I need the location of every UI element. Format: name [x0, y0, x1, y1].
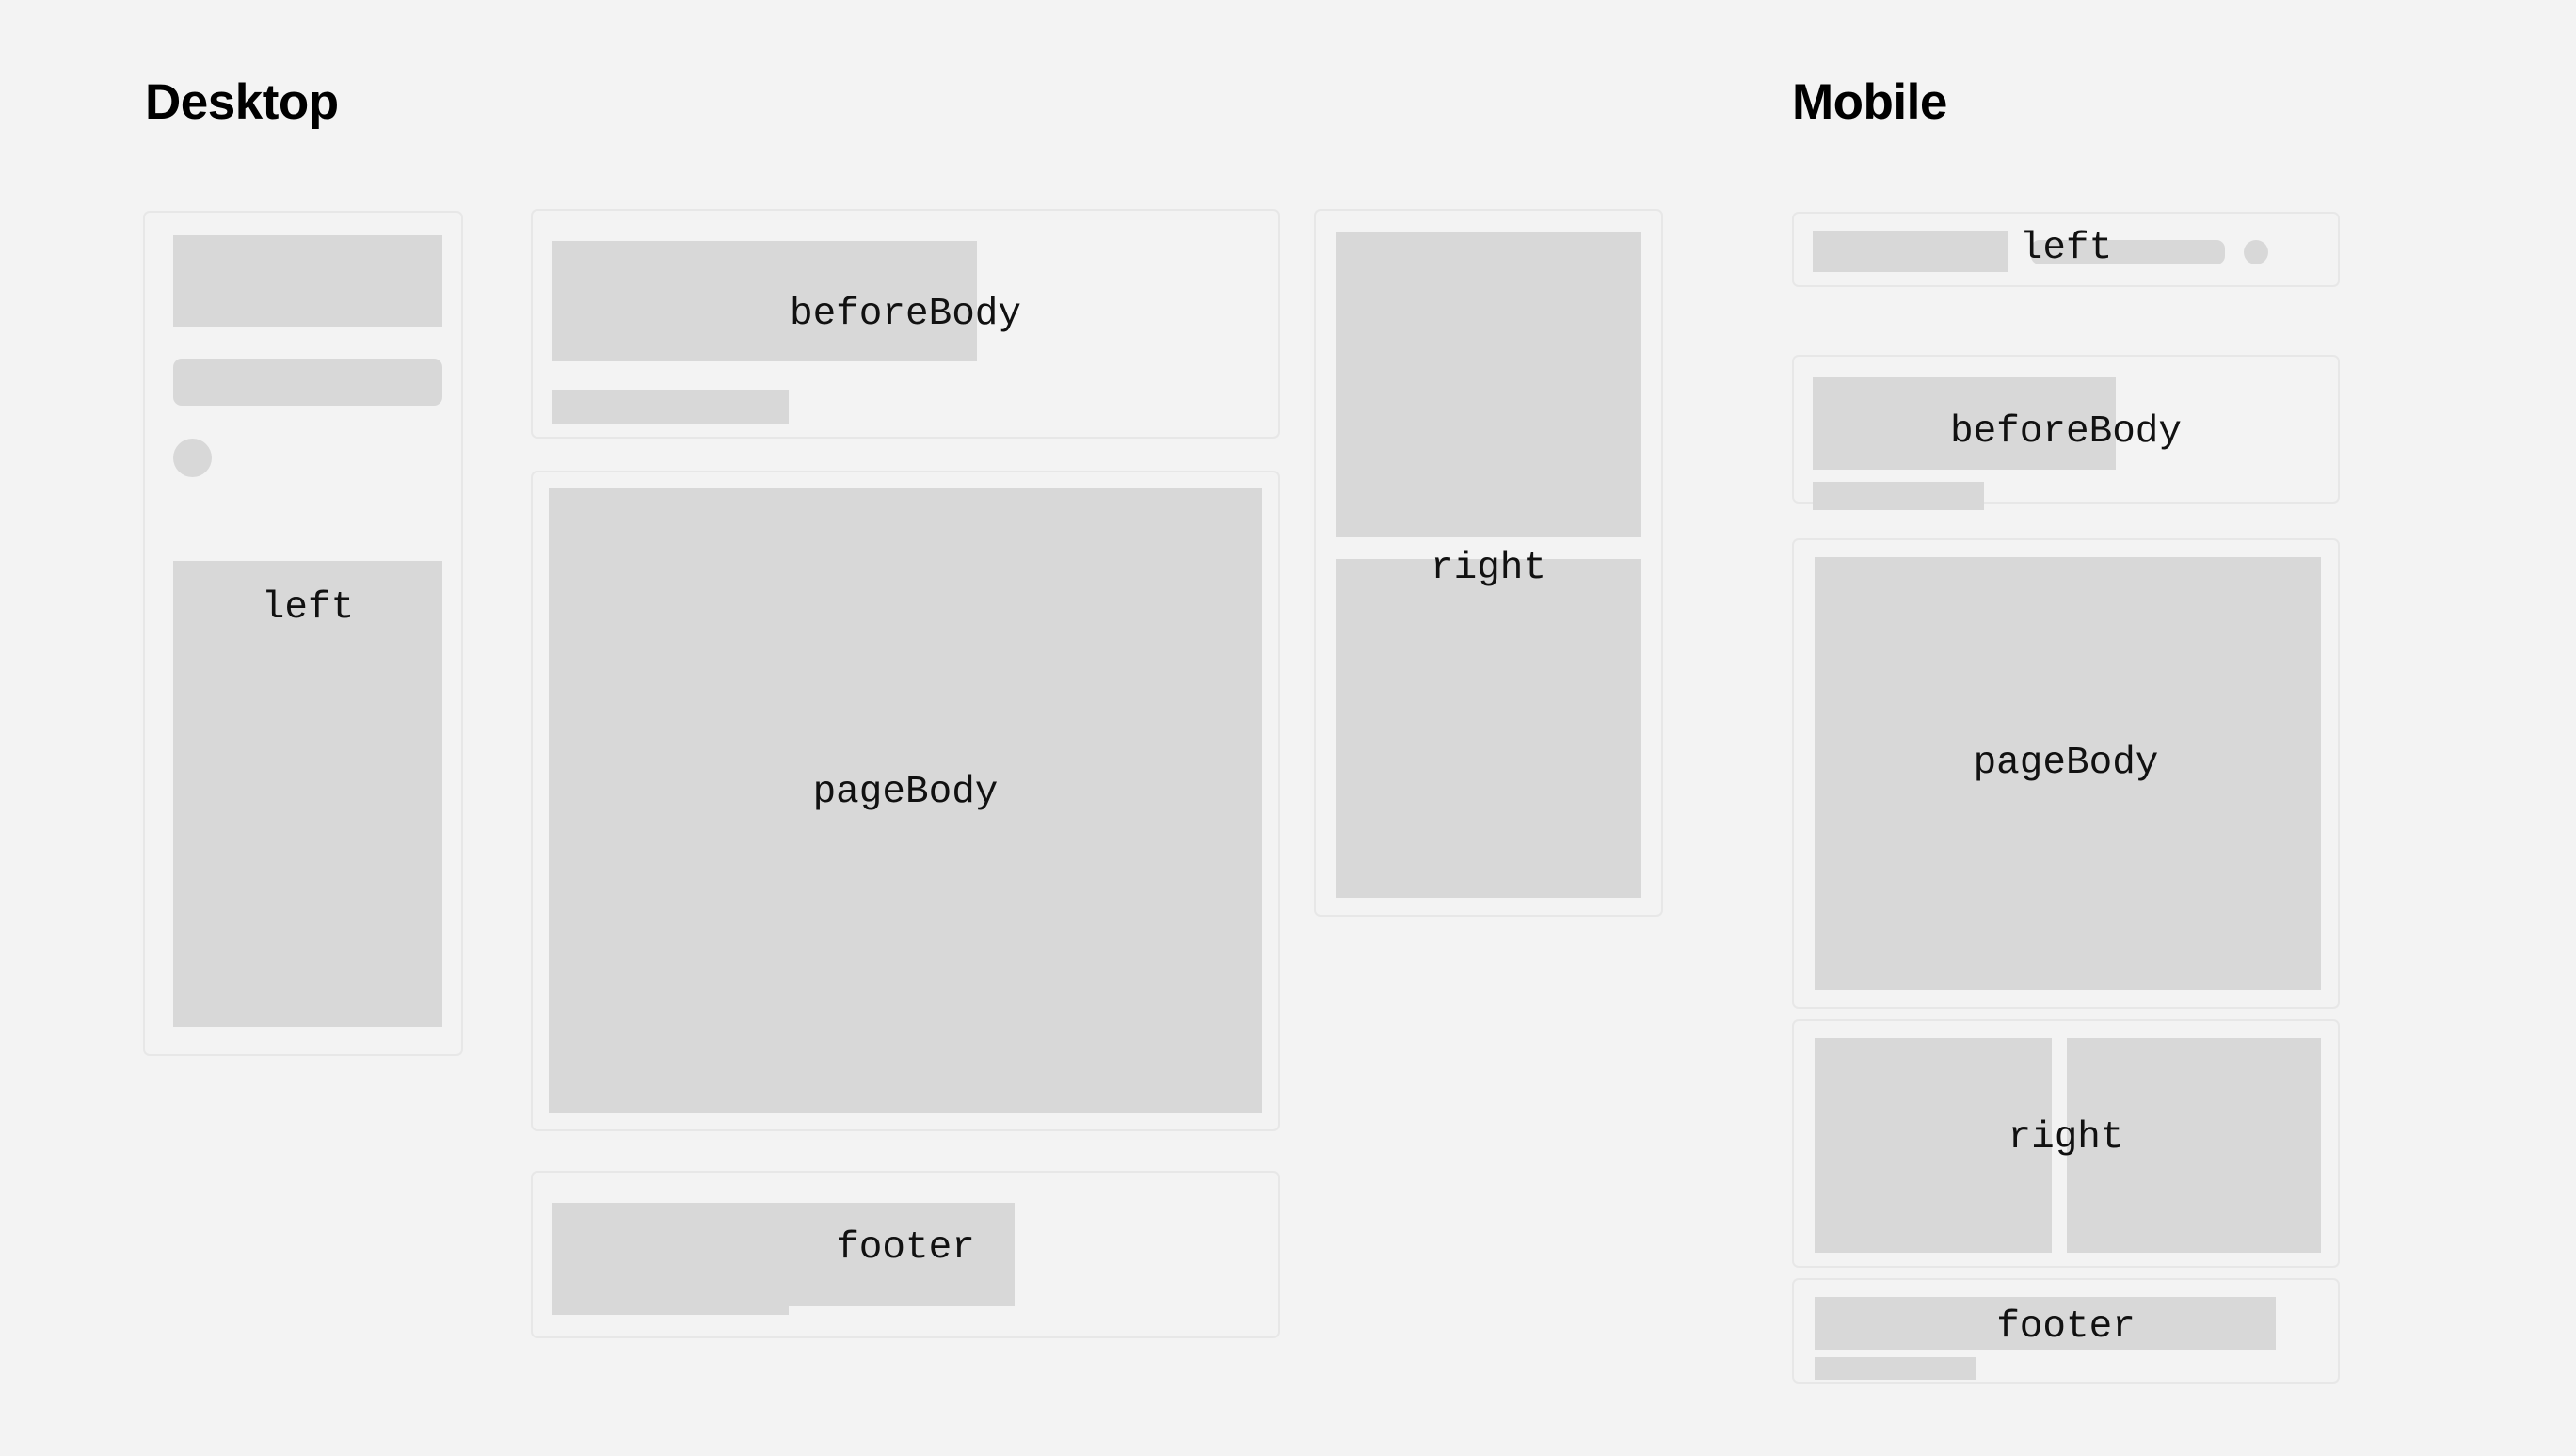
desktop-left-header-block — [173, 235, 442, 327]
desktop-right-widget-block-bottom — [1336, 559, 1641, 898]
desktop-left-avatar — [173, 439, 212, 477]
desktop-right-panel: right — [1314, 209, 1663, 917]
desktop-before-body-caption-bar — [552, 390, 789, 424]
desktop-left-search-bar — [173, 359, 442, 406]
desktop-before-body-panel: beforeBody — [531, 209, 1280, 439]
desktop-footer-small-bar — [552, 1281, 789, 1315]
mobile-footer-small-bar — [1815, 1357, 1976, 1380]
mobile-before-body-banner-block — [1813, 377, 2116, 470]
mobile-page-body-panel: pageBody — [1792, 538, 2340, 1009]
mobile-footer-panel: footer — [1792, 1278, 2340, 1384]
mobile-left-panel: left — [1792, 212, 2340, 287]
desktop-page-body-panel: pageBody — [531, 471, 1280, 1131]
mobile-footer-bar — [1815, 1297, 2276, 1350]
mobile-right-widget-block-right — [2067, 1038, 2321, 1253]
desktop-footer-panel: footer — [531, 1171, 1280, 1338]
mobile-before-body-caption-bar — [1813, 482, 1984, 510]
mobile-left-header-block — [1813, 231, 2008, 272]
desktop-right-widget-block-top — [1336, 232, 1641, 537]
desktop-before-body-banner-block — [552, 241, 977, 361]
mobile-right-widget-block-left — [1815, 1038, 2052, 1253]
desktop-section-title: Desktop — [145, 77, 339, 127]
mobile-left-avatar — [2244, 240, 2268, 264]
mobile-before-body-panel: beforeBody — [1792, 355, 2340, 504]
desktop-page-body-content-block — [549, 488, 1262, 1113]
desktop-left-nav-block — [173, 561, 442, 1027]
mobile-page-body-content-block — [1815, 557, 2321, 990]
mobile-left-search-bar — [2031, 240, 2225, 264]
mobile-right-panel: right — [1792, 1019, 2340, 1268]
mobile-section-title: Mobile — [1792, 77, 1947, 127]
desktop-left-panel: left — [143, 211, 463, 1056]
